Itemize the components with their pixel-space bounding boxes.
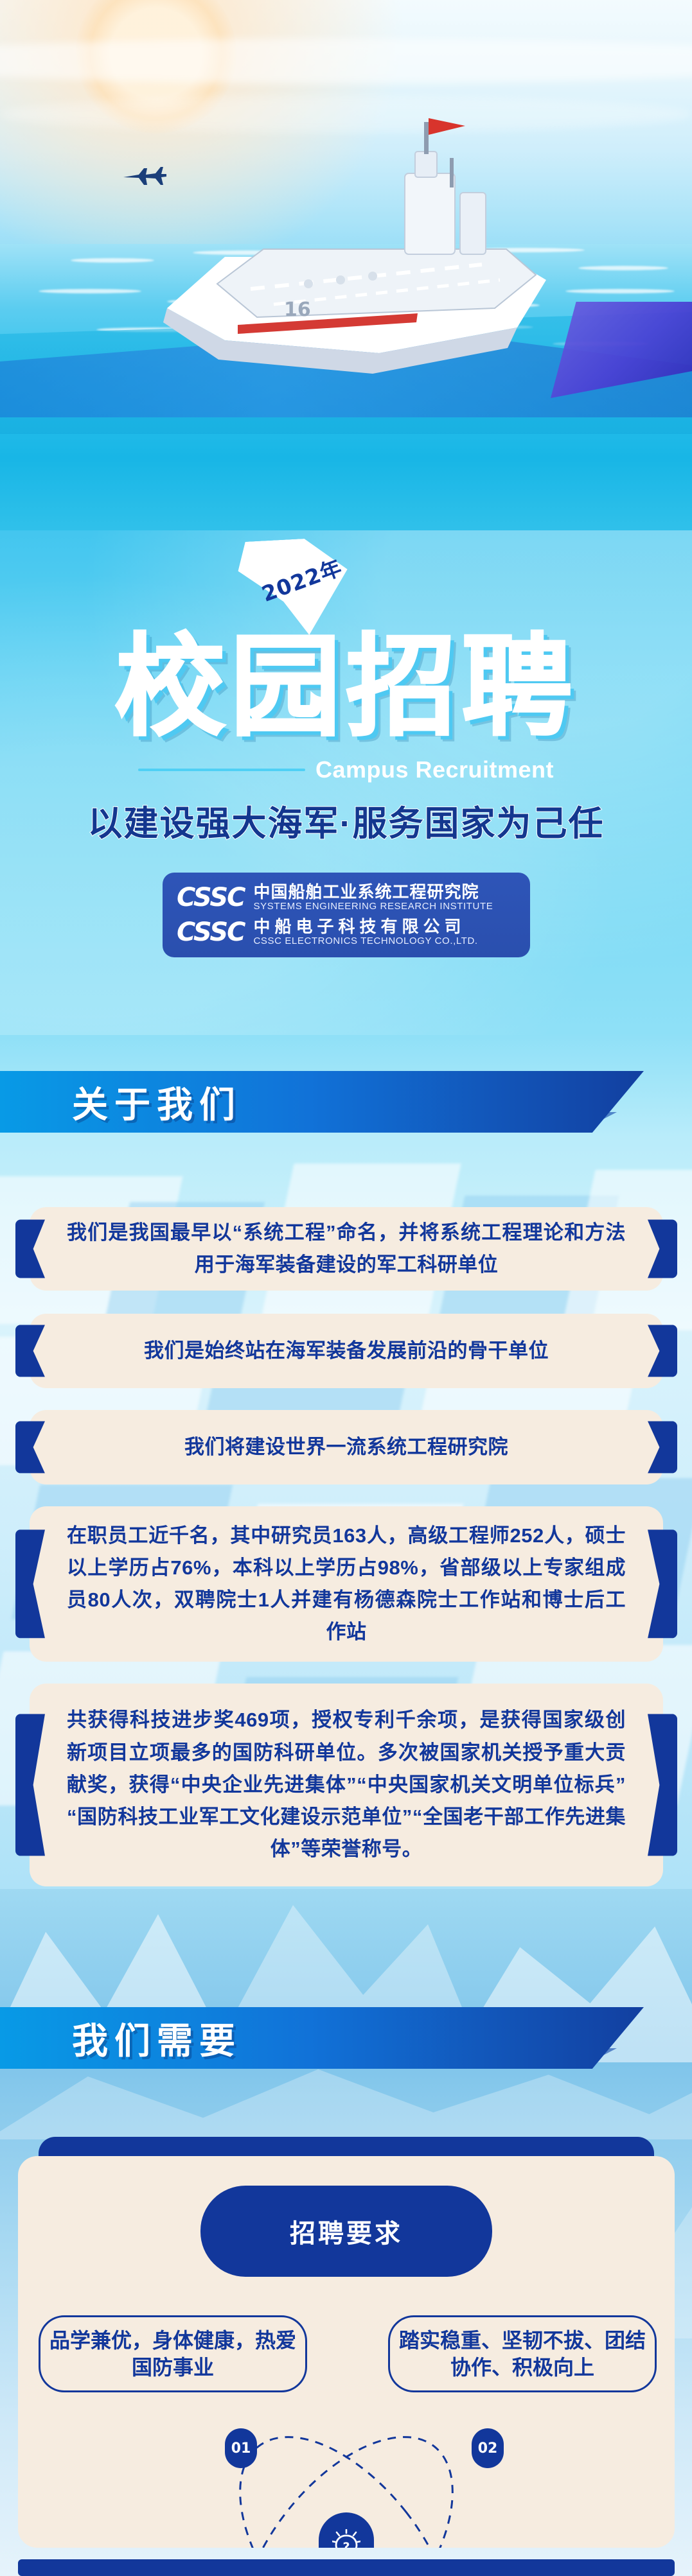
requirement-item-02[interactable]: 踏实稳重、坚韧不拔、团结协作、积极向上: [388, 2315, 657, 2392]
recruitment-poster: 16 2022年 校园招聘 Campus Recruitment 以建设强大海军…: [0, 0, 692, 2576]
logo-row-company: CSSC 中船电子科技有限公司 CSSC ELECTRONICS TECHNOL…: [177, 918, 516, 947]
needs-heading-text: 我们需要: [72, 2012, 242, 2064]
card-tab-right: [648, 1220, 677, 1278]
card-tab-left: [15, 1529, 45, 1638]
logo-row-institute: CSSC 中国船舶工业系统工程研究院 SYSTEMS ENGINEERING R…: [177, 883, 516, 912]
card-tab-right: [648, 1421, 677, 1473]
logo-institute-en: SYSTEMS ENGINEERING RESEARCH INSTITUTE: [253, 901, 493, 912]
logo-company-cn: 中船电子科技有限公司: [253, 918, 477, 936]
requirements-panel: 招聘要求 品学兼优，身体健康，热爱国防事业 踏实稳重、坚韧不拔、团结协作、积极向…: [18, 2156, 675, 2548]
about-heading-text: 关于我们: [72, 1076, 242, 1128]
bottom-accent-bar: [18, 2559, 675, 2576]
about-card-2-text: 我们是始终站在海军装备发展前沿的骨干单位: [144, 1335, 549, 1367]
about-card-1: 我们是我国最早以“系统工程”命名，并将系统工程理论和方法用于海军装备建设的军工科…: [30, 1207, 663, 1291]
page-title: 校园招聘: [0, 632, 692, 742]
requirement-item-01[interactable]: 品学兼优，身体健康，热爱国防事业: [39, 2315, 307, 2392]
card-tab-right: [648, 1529, 677, 1638]
logo-institute-cn: 中国船舶工业系统工程研究院: [253, 883, 493, 901]
slogan-text: 以建设强大海军·服务国家为己任: [0, 795, 692, 846]
title-section: 2022年 校园招聘 Campus Recruitment 以建设强大海军·服务…: [0, 530, 692, 1038]
cssc-logo-plate: CSSC 中国船舶工业系统工程研究院 SYSTEMS ENGINEERING R…: [163, 873, 530, 957]
about-card-1-text: 我们是我国最早以“系统工程”命名，并将系统工程理论和方法用于海军装备建设的军工科…: [67, 1217, 626, 1281]
about-card-statistics: 在职员工近千名，其中研究员163人，高级工程师252人，硕士以上学历占76%，本…: [30, 1506, 663, 1662]
about-card-awards-text: 共获得科技进步奖469项，授权专利千余项，是获得国家级创新项目立项最多的国防科研…: [67, 1704, 626, 1865]
about-card-2: 我们是始终站在海军装备发展前沿的骨干单位: [30, 1314, 663, 1388]
card-tab-right: [648, 1714, 677, 1856]
step-number-01: 01: [225, 2428, 257, 2468]
logo-company-en: CSSC ELECTRONICS TECHNOLOGY CO.,LTD.: [253, 936, 477, 946]
svg-text:16: 16: [284, 299, 311, 321]
year-badge: 2022年: [257, 550, 346, 608]
hero-sky-background: 16: [0, 0, 692, 533]
cloud-band: [0, 39, 692, 83]
about-card-3: 我们将建设世界一流系统工程研究院: [30, 1410, 663, 1484]
card-tab-left: [15, 1325, 45, 1377]
subtitle-rule-left: [138, 769, 305, 771]
about-card-3-text: 我们将建设世界一流系统工程研究院: [184, 1431, 508, 1463]
about-card-awards: 共获得科技进步奖469项，授权专利千余项，是获得国家级创新项目立项最多的国防科研…: [30, 1684, 663, 1886]
requirements-title: 招聘要求: [200, 2186, 492, 2277]
subtitle-english: Campus Recruitment: [315, 756, 554, 783]
cssc-wordmark: CSSC: [177, 918, 244, 947]
card-tab-right: [648, 1325, 677, 1377]
needs-section-heading: 我们需要: [0, 2007, 644, 2069]
card-tab-left: [15, 1714, 45, 1856]
svg-text:?: ?: [342, 2540, 350, 2548]
subtitle-row: Campus Recruitment: [0, 756, 692, 783]
card-tab-left: [15, 1220, 45, 1278]
about-section-heading: 关于我们: [0, 1071, 644, 1133]
cssc-wordmark: CSSC: [177, 883, 244, 912]
aircraft-carrier-icon: 16: [148, 96, 559, 392]
card-tab-left: [15, 1421, 45, 1473]
about-card-statistics-text: 在职员工近千名，其中研究员163人，高级工程师252人，硕士以上学历占76%，本…: [67, 1520, 626, 1649]
step-number-02: 02: [472, 2428, 504, 2468]
